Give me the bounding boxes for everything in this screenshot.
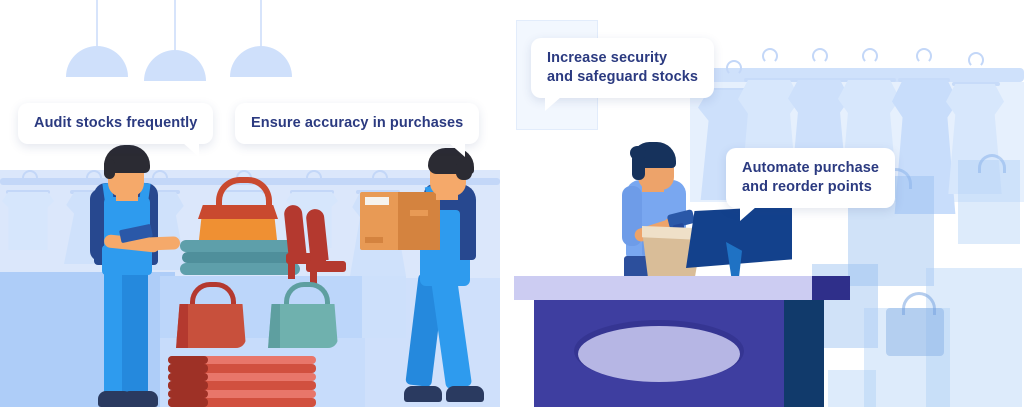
person-warehouse-worker xyxy=(398,148,503,407)
product-red-folded-stack xyxy=(168,356,316,407)
product-red-high-heels xyxy=(286,205,341,277)
product-red-handbag xyxy=(176,282,248,348)
callout-audit-stocks[interactable]: Audit stocks frequently xyxy=(18,103,213,144)
callout-increase-security[interactable]: Increase security and safeguard stocks xyxy=(531,38,714,98)
product-teal-folded-clothes xyxy=(180,240,300,280)
callout-text: Automate purchase and reorder points xyxy=(742,159,879,197)
checkout-counter xyxy=(514,276,822,407)
shelf-edge xyxy=(362,276,406,338)
callout-tail xyxy=(183,143,199,157)
callout-tail xyxy=(740,207,756,221)
left-wall xyxy=(0,0,500,172)
callout-text: Audit stocks frequently xyxy=(34,114,197,133)
product-green-handbag xyxy=(268,282,340,348)
callout-ensure-accuracy[interactable]: Ensure accuracy in purchases xyxy=(235,103,479,144)
cardboard-box-icon xyxy=(360,192,440,250)
callout-text: Increase security and safeguard stocks xyxy=(547,49,698,87)
callout-automate-purchase[interactable]: Automate purchase and reorder points xyxy=(726,148,895,208)
product-orange-handbag xyxy=(196,177,280,247)
retail-store-left-scene xyxy=(0,0,500,407)
callout-text: Ensure accuracy in purchases xyxy=(251,114,463,133)
callout-tail xyxy=(545,97,561,111)
illustration-scene: Audit stocks frequently Ensure accuracy … xyxy=(0,0,1024,407)
callout-tail xyxy=(449,143,465,157)
